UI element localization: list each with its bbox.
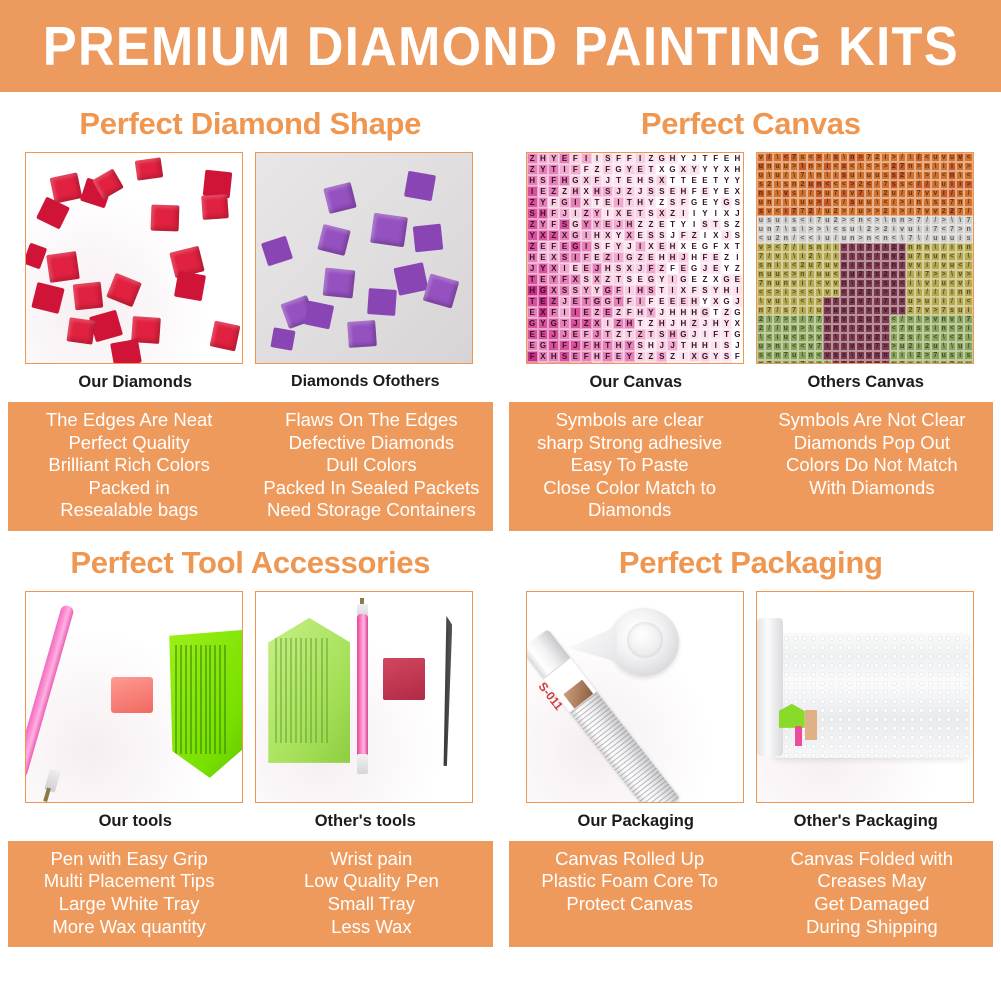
purple-diamonds-photo	[255, 152, 473, 364]
section-packaging: Perfect Packaging S-011	[501, 531, 1001, 947]
text-line: Low Quality Pen	[254, 870, 488, 893]
text-line: Large White Tray	[12, 893, 246, 916]
page-title: PREMIUM DIAMOND PAINTING KITS	[42, 14, 958, 78]
diamond-pen-icon	[357, 614, 368, 764]
section-diamond-shape: Perfect Diamond Shape	[0, 92, 501, 531]
others-column: Flaws On The Edges Defective Diamonds Du…	[250, 409, 492, 522]
text-line: Brilliant Rich Colors	[12, 454, 246, 477]
text-line: Need Storage Containers	[254, 499, 488, 522]
photo-caption: Others Canvas	[756, 373, 976, 392]
pink-pen-green-tray-photo	[25, 591, 243, 803]
section-photos: Our Diamonds	[0, 152, 501, 392]
text-line: Diamonds	[513, 499, 747, 522]
bubble-mailer-photo	[756, 591, 974, 803]
photo-cell: Our tools	[25, 591, 245, 831]
text-line: Symbols are clear	[513, 409, 747, 432]
text-line: Packed In Sealed Packets	[254, 477, 488, 500]
text-line: Dull Colors	[254, 454, 488, 477]
text-line: Multi Placement Tips	[12, 870, 246, 893]
text-line: Packed in	[12, 477, 246, 500]
photo-caption: Our Diamonds	[25, 373, 245, 392]
text-line: Colors Do Not Match	[755, 454, 989, 477]
photo-cell: ZHYEFIISFFIZGHYJTFEHZYTIFFZFGYETXGXYYYXH…	[526, 152, 746, 392]
tube-cap-icon	[609, 608, 679, 676]
drill-tray-icon	[169, 630, 243, 778]
section-canvas: Perfect Canvas ZHYEFIISFFIZGHYJTFEHZYTIF…	[501, 92, 1001, 531]
wax-square-icon	[111, 677, 153, 713]
photo-caption: Our tools	[25, 812, 245, 831]
sections-grid: Perfect Diamond Shape	[0, 92, 1001, 947]
section-title: Perfect Tool Accessories	[0, 545, 501, 581]
drill-tray-icon	[268, 618, 350, 763]
ours-column: Pen with Easy Grip Multi Placement Tips …	[8, 848, 250, 938]
photo-caption: Other's tools	[255, 812, 475, 831]
text-line: Easy To Paste	[513, 454, 747, 477]
text-line: Pen with Easy Grip	[12, 848, 246, 871]
text-line: Symbols Are Not Clear	[755, 409, 989, 432]
text-line: Flaws On The Edges	[254, 409, 488, 432]
rolled-tube-photo: S-011	[526, 591, 744, 803]
ours-column: Canvas Rolled Up Plastic Foam Core To Pr…	[509, 848, 751, 938]
comparison-textbox: Pen with Easy Grip Multi Placement Tips …	[8, 841, 493, 947]
comparison-textbox: Canvas Rolled Up Plastic Foam Core To Pr…	[509, 841, 994, 947]
text-line: Get Damaged	[755, 893, 989, 916]
text-line: Canvas Folded with	[755, 848, 989, 871]
photo-cell: S-011 Our Packaging	[526, 591, 746, 831]
text-line: Perfect Quality	[12, 432, 246, 455]
section-photos: Our tools Other's tools	[0, 591, 501, 831]
photo-caption: Our Packaging	[526, 812, 746, 831]
red-diamonds-photo	[25, 152, 243, 364]
section-title: Perfect Packaging	[501, 545, 1001, 581]
section-title: Perfect Diamond Shape	[0, 106, 501, 142]
photo-caption: Other's Packaging	[756, 812, 976, 831]
text-line: Creases May	[755, 870, 989, 893]
wax-square-icon	[383, 658, 425, 700]
text-line: Protect Canvas	[513, 893, 747, 916]
text-line: Close Color Match to	[513, 477, 747, 500]
comparison-textbox: The Edges Are Neat Perfect Quality Brill…	[8, 402, 493, 531]
others-column: Wrist pain Low Quality Pen Small Tray Le…	[250, 848, 492, 938]
photo-caption: Our Canvas	[526, 373, 746, 392]
canvas-symbol-grid: v/\<7s<>/s\n>72i>/\/<uvuv<unuu>\n>i<s<\<…	[757, 153, 973, 363]
text-line: With Diamonds	[755, 477, 989, 500]
section-title: Perfect Canvas	[501, 106, 1001, 142]
text-line: Wrist pain	[254, 848, 488, 871]
green-tray-pen-tweezers-photo	[255, 591, 473, 803]
others-column: Canvas Folded with Creases May Get Damag…	[751, 848, 993, 938]
section-photos: ZHYEFIISFFIZGHYJTFEHZYTIFFZFGYETXGXYYYXH…	[501, 152, 1001, 392]
text-line: Small Tray	[254, 893, 488, 916]
ours-column: Symbols are clear sharp Strong adhesive …	[509, 409, 751, 522]
contents-peek	[779, 704, 819, 746]
section-tool-accessories: Perfect Tool Accessories Our tools	[0, 531, 501, 947]
comparison-textbox: Symbols are clear sharp Strong adhesive …	[509, 402, 994, 531]
pen-cap-icon	[357, 754, 368, 774]
text-line: More Wax quantity	[12, 916, 246, 939]
others-column: Symbols Are Not Clear Diamonds Pop Out C…	[751, 409, 993, 522]
photo-cell: Other's tools	[255, 591, 475, 831]
text-line: Less Wax	[254, 916, 488, 939]
photo-cell: Other's Packaging	[756, 591, 976, 831]
text-line: The Edges Are Neat	[12, 409, 246, 432]
section-photos: S-011 Our Packaging	[501, 591, 1001, 831]
text-line: Defective Diamonds	[254, 432, 488, 455]
ours-column: The Edges Are Neat Perfect Quality Brill…	[8, 409, 250, 522]
text-line: Resealable bags	[12, 499, 246, 522]
text-line: Canvas Rolled Up	[513, 848, 747, 871]
pink-symbol-canvas-photo: ZHYEFIISFFIZGHYJTFEHZYTIFFZFGYETXGXYYYXH…	[526, 152, 744, 364]
canvas-symbol-grid: ZHYEFIISFFIZGHYJTFEHZYTIFFZFGYETXGXYYYXH…	[527, 153, 743, 363]
muddy-symbol-canvas-photo: v/\<7s<>/s\n>72i>/\/<uvuv<unuu>\n>i<s<\<…	[756, 152, 974, 364]
photo-cell: v/\<7s<>/s\n>72i>/\/<uvuv<unuu>\n>i<s<\<…	[756, 152, 976, 392]
photo-caption: Diamonds Ofothers	[255, 373, 475, 391]
text-line: Diamonds Pop Out	[755, 432, 989, 455]
text-line: sharp Strong adhesive	[513, 432, 747, 455]
text-line: During Shipping	[755, 916, 989, 939]
photo-cell: Diamonds Ofothers	[255, 152, 475, 392]
photo-cell: Our Diamonds	[25, 152, 245, 392]
infographic-page: PREMIUM DIAMOND PAINTING KITS Perfect Di…	[0, 0, 1001, 1001]
text-line: Plastic Foam Core To	[513, 870, 747, 893]
page-header: PREMIUM DIAMOND PAINTING KITS	[0, 0, 1001, 92]
